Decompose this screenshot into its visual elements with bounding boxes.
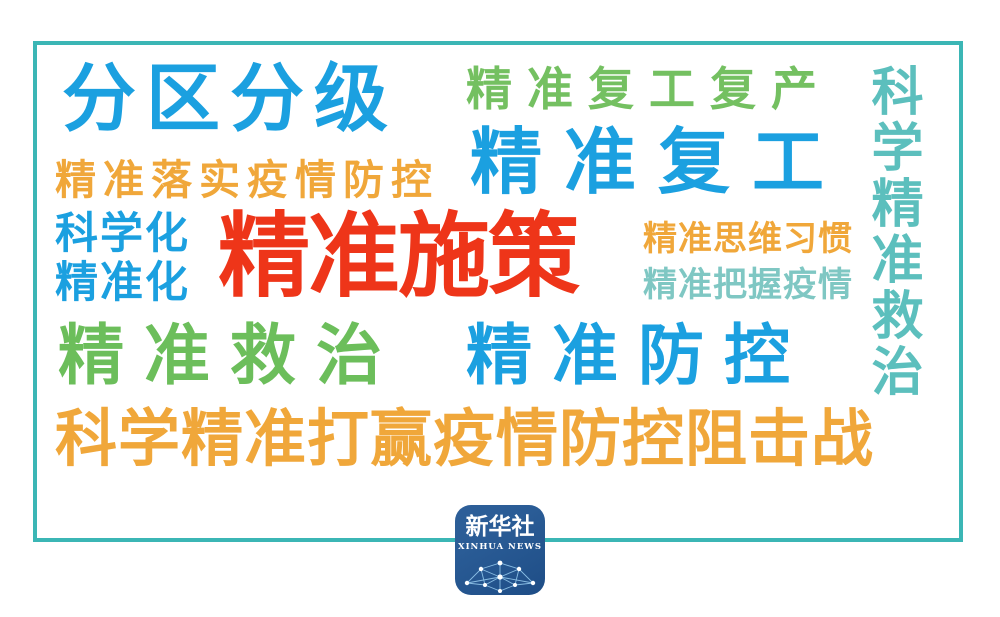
word-jingzhun-fangkong: 精准防控	[466, 323, 810, 389]
poster-canvas: 分区分级 精准复工复产 精准落实疫情防控 精准复工 科学精准救治 科学化 精准化…	[0, 0, 1000, 617]
word-jingzhun-siwei-xiguan: 精准思维习惯	[643, 222, 853, 256]
word-fenqu-fenji: 分区分级	[62, 62, 398, 136]
word-jingzhun-luoshi-yiqing-fangkong: 精准落实疫情防控	[55, 160, 439, 201]
logo-name-cn: 新华社	[455, 516, 545, 539]
word-kexuehua: 科学化	[55, 213, 190, 256]
word-kexue-jingzhun-jiuzhi-vertical: 科学精准救治	[866, 64, 918, 400]
word-jingzhun-bawo-yiqing: 精准把握疫情	[643, 268, 853, 302]
word-jingzhun-jiuzhi: 精准救治	[58, 323, 402, 389]
network-nodes-icon	[455, 553, 545, 595]
logo-name-en: XINHUA NEWS	[455, 542, 545, 552]
word-jingzhun-fugong-fuchan: 精准复工复产	[466, 66, 832, 112]
word-jingzhun-fugong: 精准复工	[470, 126, 846, 198]
word-jingzhunhua: 精准化	[55, 262, 190, 305]
word-jingzhun-shice: 精准施策	[218, 211, 578, 303]
word-kexue-jingzhun-dayying: 科学精准打赢疫情防控阻击战	[55, 408, 874, 470]
xinhua-news-logo: 新华社 XINHUA NEWS	[455, 505, 545, 595]
logo-tile: 新华社 XINHUA NEWS	[455, 505, 545, 595]
